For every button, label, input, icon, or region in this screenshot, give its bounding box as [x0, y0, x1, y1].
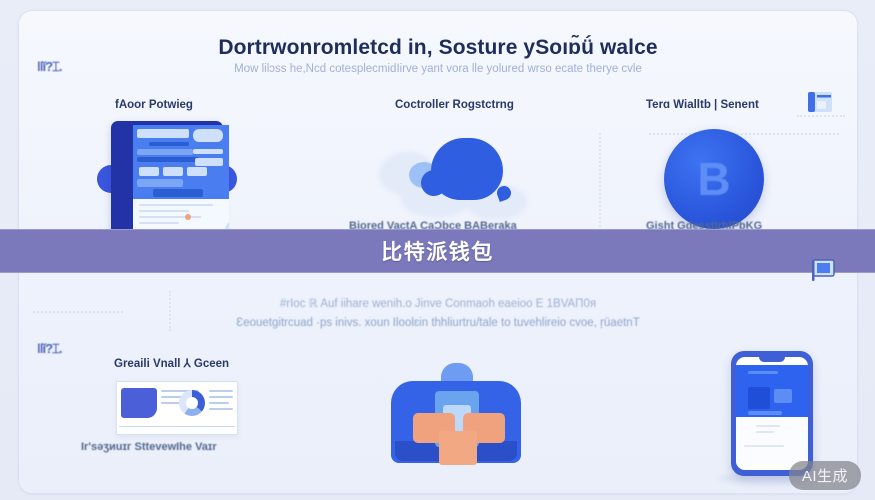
column-label-3: Terɑ Wialltb | Senent [646, 99, 759, 111]
middle-text-line-2: Ɛeouetgitrcuad ·ps inivs. xoun Iloolɛin … [19, 317, 857, 329]
ai-generated-watermark: AI生成 [789, 461, 861, 490]
window-card-icon-top-right [807, 91, 833, 113]
page-title: Dortrwonromletcd in, Sosture ySoıɒ̃ǘ wal… [19, 36, 857, 60]
screenshot-root: Dortrwonromletcd in, Sosture ySoıɒ̃ǘ wal… [0, 0, 875, 500]
bottom-caption-1: Ir'səʒиuɪг SttevewIhe Vaɪr [81, 441, 217, 453]
title-banner: 比特派钱包 [0, 229, 875, 273]
dotted-rule-left [33, 311, 123, 314]
column-divider-top [599, 133, 602, 231]
decorative-glyph-cluster-bottom-left: ǁǐ?⌶. [37, 341, 61, 357]
middle-text-line-1: #rIoc ℝ Auf iihare wenih.o Jinve Conmaoh… [19, 296, 857, 310]
bottom-label-1: Greaili Vnall ⅄ Gceen [114, 356, 229, 370]
page-subtitle: Mow lilɔss he,Ncd cotesplecmidIirve yant… [19, 63, 857, 75]
coin-token-illustration: B [664, 129, 764, 229]
dotted-rule-corner [797, 115, 845, 118]
window-card-icon-mid-right [810, 259, 836, 281]
banner-title: 比特派钱包 [381, 236, 494, 266]
column-label-2: Coctroller Rogstctrng [395, 99, 514, 111]
column-label-1: fAoor Potwieg [115, 99, 193, 111]
person-illustration [391, 363, 521, 468]
analytics-card-illustration [116, 381, 238, 435]
decorative-glyph-cluster-top-left: ǁǐ?⌶. [37, 59, 61, 75]
smartphone-illustration [731, 351, 813, 476]
token-glyph: B [664, 129, 764, 229]
